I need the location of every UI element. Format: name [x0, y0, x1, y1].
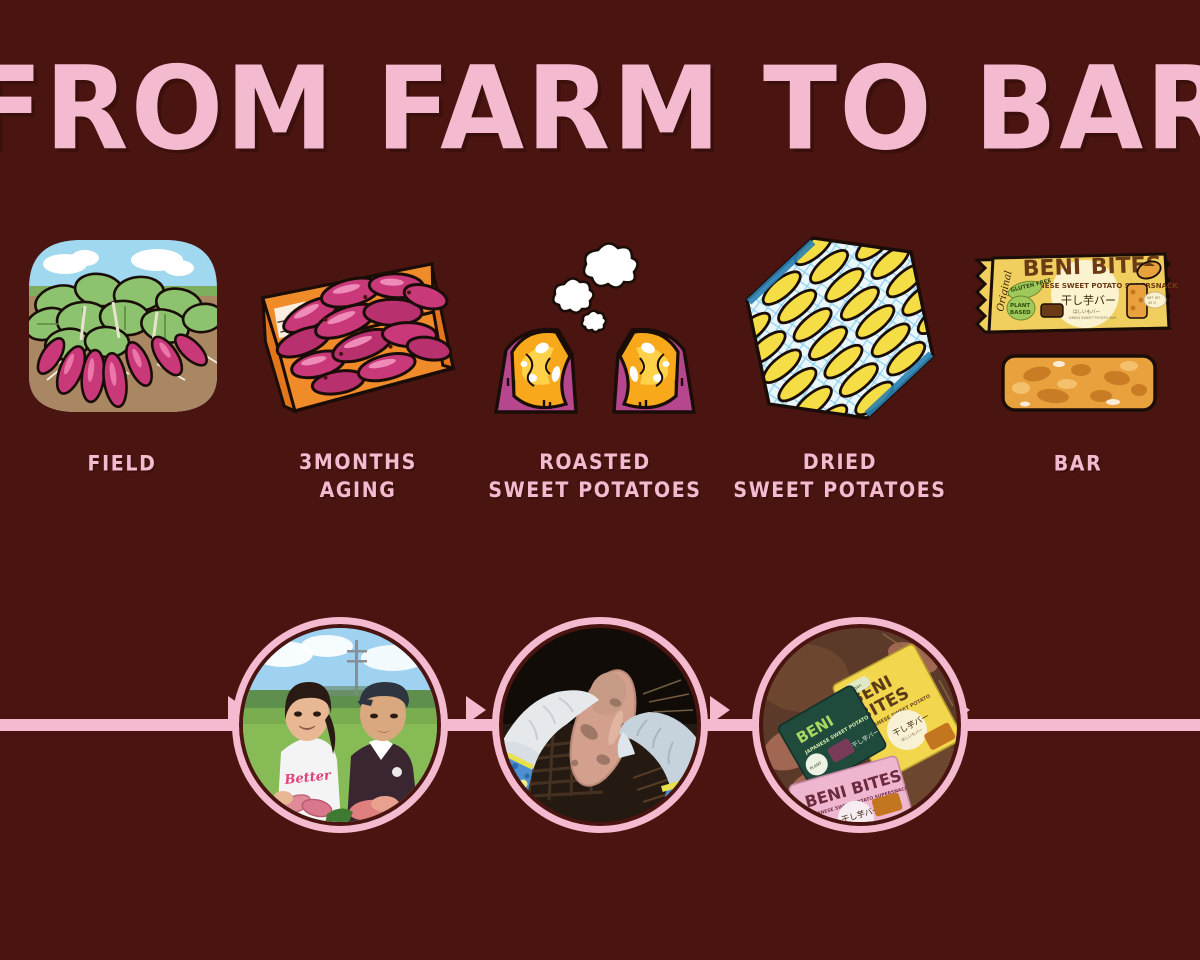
- process-step-dried: DRIED SWEET POTATOES: [725, 228, 955, 528]
- svg-text:PLANT: PLANT: [1010, 303, 1030, 309]
- photo-farmers: Better: [243, 628, 437, 822]
- photo-circle-packages: BENI BITES JAPANESE SWEET POTATO 干し芋バー ほ…: [752, 617, 968, 833]
- svg-text:BENI: BENI: [1022, 255, 1081, 282]
- process-step-roasted: ROASTED SWEET POTATOES: [480, 228, 710, 528]
- svg-text:40 G: 40 G: [1148, 301, 1156, 305]
- process-step-label-roasted: ROASTED SWEET POTATOES: [455, 449, 735, 506]
- svg-text:BASED: BASED: [1010, 310, 1031, 316]
- photo-circle-harvest: [492, 617, 708, 833]
- photo-packages: BENI BITES JAPANESE SWEET POTATO 干し芋バー ほ…: [763, 628, 957, 822]
- process-flow: FIELD: [0, 228, 1200, 528]
- sweet-potato-field-illustration: [7, 228, 237, 428]
- beni-bites-bar-illustration: BENI BITES JAPANESE SWEET POTATO SUPERSN…: [963, 228, 1193, 428]
- roasted-sweet-potato-illustration: [480, 228, 710, 428]
- svg-text:干し芋バー: 干し芋バー: [1061, 294, 1116, 307]
- poster-root: FROM FARM TO BAR: [0, 0, 1200, 960]
- svg-text:NET WT: NET WT: [1147, 296, 1161, 300]
- process-step-aging: 3MONTHS AGING: [243, 228, 473, 528]
- photo-harvest: [503, 628, 697, 822]
- process-step-label-aging: 3MONTHS AGING: [243, 449, 473, 506]
- process-step-label-field: FIELD: [7, 450, 237, 478]
- process-step-field: FIELD: [7, 228, 237, 528]
- drying-rack-illustration: [725, 228, 955, 428]
- process-step-label-bar: BAR: [963, 450, 1193, 478]
- page-title: FROM FARM TO BAR: [0, 52, 1200, 167]
- sweet-potato-crate-illustration: [243, 228, 473, 428]
- process-step-label-dried: DRIED SWEET POTATOES: [700, 449, 980, 506]
- photo-circle-farmers: Better: [232, 617, 448, 833]
- svg-text:ほしいもバー: ほしいもバー: [1073, 309, 1100, 315]
- process-step-bar: BENI BITES JAPANESE SWEET POTATO SUPERSN…: [963, 228, 1193, 528]
- svg-text:DRIED SWEET POTATO BAR: DRIED SWEET POTATO BAR: [1069, 316, 1117, 320]
